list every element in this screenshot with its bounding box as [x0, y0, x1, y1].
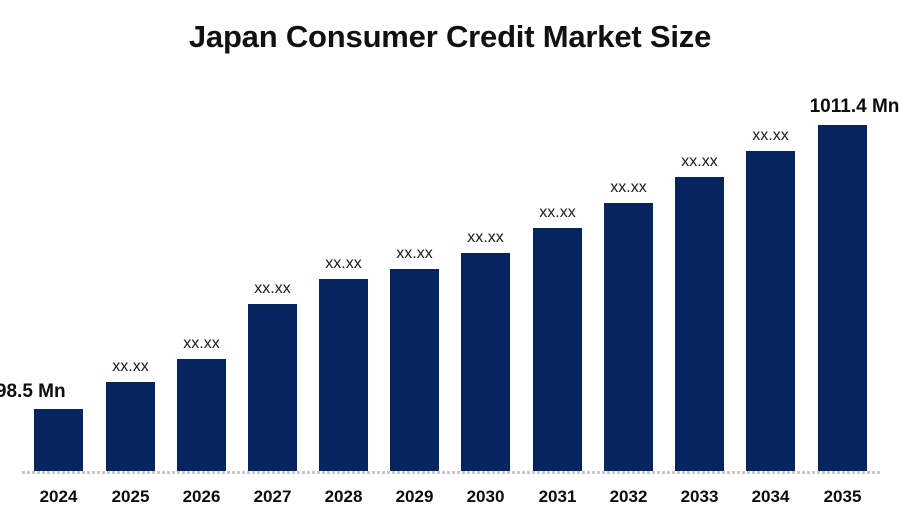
- plot-area: 698.5 Mn2024xx.xx2025xx.xx2026xx.xx2027x…: [0, 0, 900, 525]
- bar-chart: Japan Consumer Credit Market Size 698.5 …: [0, 0, 900, 525]
- bar-value-label-2029: xx.xx: [370, 245, 460, 263]
- bar-2026: [177, 359, 226, 471]
- bar-value-label-2031: xx.xx: [513, 204, 603, 222]
- bar-value-label-2033: xx.xx: [655, 153, 745, 171]
- bar-2029: [390, 269, 439, 471]
- bar-2031: [533, 228, 582, 471]
- bar-2027: [248, 304, 297, 471]
- bar-value-label-2030: xx.xx: [441, 229, 531, 247]
- bar-2034: [746, 151, 795, 471]
- bar-value-label-2025: xx.xx: [86, 358, 176, 376]
- bar-2028: [319, 279, 368, 471]
- bar-value-label-2035: 1011.4 Mn: [770, 96, 900, 118]
- bar-2024: [34, 409, 83, 471]
- bar-value-label-2034: xx.xx: [726, 127, 816, 145]
- bar-2025: [106, 382, 155, 471]
- bar-2030: [461, 253, 510, 471]
- bar-2033: [675, 177, 724, 471]
- bar-value-label-2026: xx.xx: [157, 335, 247, 353]
- bar-value-label-2027: xx.xx: [228, 280, 318, 298]
- bar-value-label-2024: 698.5 Mn: [0, 381, 111, 403]
- category-label-2035: 2035: [798, 487, 888, 507]
- bar-2032: [604, 203, 653, 471]
- x-axis-line: [22, 471, 880, 474]
- bar-value-label-2032: xx.xx: [584, 179, 674, 197]
- bar-2035: [818, 125, 867, 471]
